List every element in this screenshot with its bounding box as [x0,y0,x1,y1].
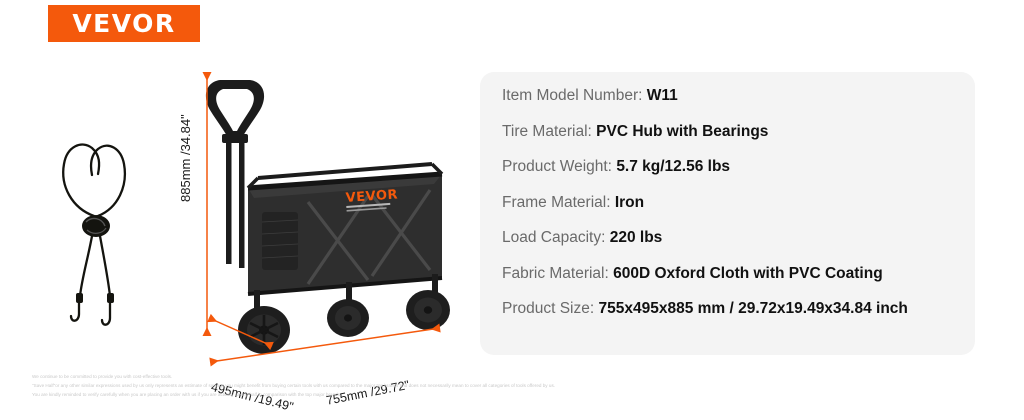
spec-row-product-weight: Product Weight: 5.7 kg/12.56 lbs [502,159,975,175]
vevor-logo: VEVOR [48,5,200,42]
spec-value: 5.7 kg/12.56 lbs [616,158,730,175]
spec-value: 220 lbs [610,229,663,246]
spec-row-load-capacity: Load Capacity: 220 lbs [502,230,975,246]
spec-label: Item Model Number: [502,87,642,104]
spec-value: W11 [647,87,678,104]
spec-row-tire-material: Tire Material: PVC Hub with Bearings [502,124,975,140]
vevor-logo-text: VEVOR [72,9,175,38]
spec-value: 755x495x885 mm / 29.72x19.49x34.84 inch [599,300,908,317]
spec-label: Load Capacity: [502,229,605,246]
spec-row-frame-material: Frame Material: Iron [502,195,975,211]
spec-label: Frame Material: [502,194,611,211]
spec-value: Iron [615,194,644,211]
spec-value: PVC Hub with Bearings [596,123,768,140]
spec-row-item-model-number: Item Model Number: W11 [502,88,975,104]
disclaimer-line-3: You are kindly reminded to verify carefu… [32,391,992,400]
dimension-lines [0,50,480,370]
spec-label: Product Size: [502,300,594,317]
dimension-height-label: 885mm /34.84" [178,114,193,202]
spec-row-product-size: Product Size: 755x495x885 mm / 29.72x19.… [502,301,975,317]
spec-label: Fabric Material: [502,265,609,282]
product-image-area: VEVOR [0,50,480,370]
spec-value: 600D Oxford Cloth with PVC Coating [613,265,883,282]
disclaimer-line-1: We continue to be committed to provide y… [32,373,992,382]
specifications-panel: Item Model Number: W11 Tire Material: PV… [480,72,975,355]
spec-row-fabric-material: Fabric Material: 600D Oxford Cloth with … [502,266,975,282]
disclaimer-text: We continue to be committed to provide y… [32,373,992,400]
spec-label: Tire Material: [502,123,592,140]
disclaimer-line-2: "Save Half"or any other similar expressi… [32,382,992,391]
spec-label: Product Weight: [502,158,612,175]
